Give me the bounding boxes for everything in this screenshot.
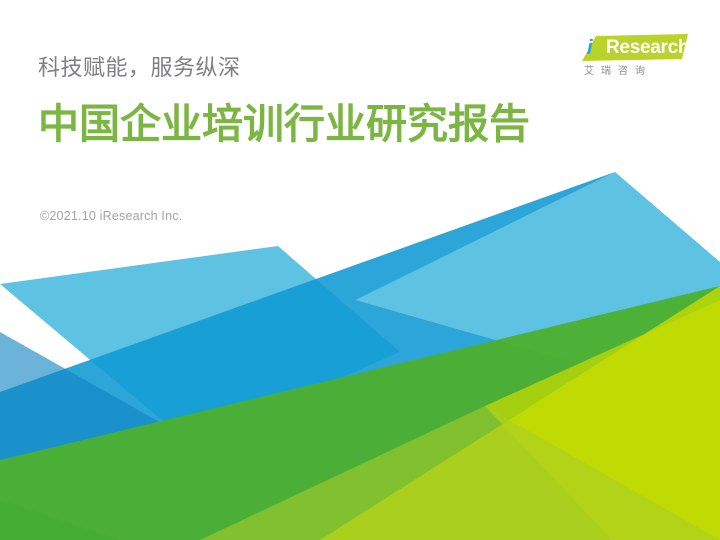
logo-chinese-name: 艾瑞咨询 xyxy=(584,65,652,79)
report-title: 中国企业培训行业研究报告 xyxy=(38,100,530,148)
report-subtitle: 科技赋能，服务纵深 xyxy=(38,54,530,82)
title-block: 科技赋能，服务纵深 中国企业培训行业研究报告 xyxy=(38,54,530,148)
report-cover-slide: 科技赋能，服务纵深 中国企业培训行业研究报告 ©2021.10 iResearc… xyxy=(0,0,720,540)
logo-mark: i Research xyxy=(578,34,692,62)
copyright-notice: ©2021.10 iResearch Inc. xyxy=(40,208,182,224)
logo-wordmark: Research xyxy=(606,36,689,60)
iresearch-logo: i Research 艾瑞咨询 xyxy=(578,34,692,84)
logo-letter-i: i xyxy=(587,36,593,60)
